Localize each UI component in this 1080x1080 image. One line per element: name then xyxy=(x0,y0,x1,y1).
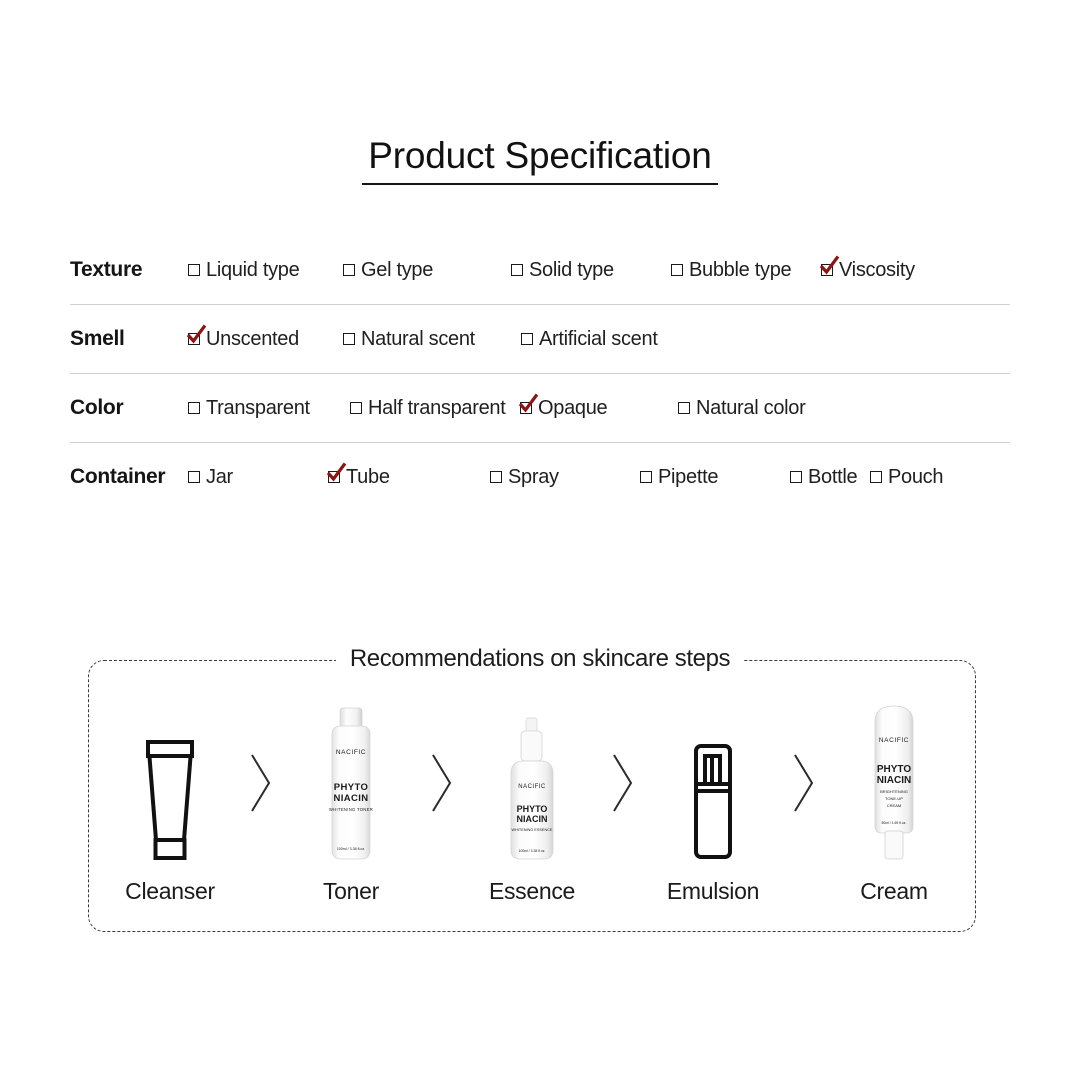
checkmark-icon xyxy=(517,393,539,413)
option-label: Viscosity xyxy=(839,259,915,282)
skincare-heading-text: Recommendations on skincare steps xyxy=(336,645,744,672)
cream-art: NACIFIC PHYTO NIACIN BRIGHTENING TONE-UP… xyxy=(859,704,929,864)
option-label: Natural scent xyxy=(361,328,475,351)
svg-text:100ml / 3.38 fl.oz.: 100ml / 3.38 fl.oz. xyxy=(519,849,546,853)
checkmark-icon xyxy=(325,462,347,482)
option-label: Gel type xyxy=(361,259,433,282)
emulsion-art xyxy=(685,704,741,864)
step-label-toner: Toner xyxy=(323,878,379,905)
option-label: Pouch xyxy=(888,466,943,489)
option-liquid-type[interactable]: Liquid type xyxy=(188,259,343,282)
step-cream[interactable]: NACIFIC PHYTO NIACIN BRIGHTENING TONE-UP… xyxy=(830,704,958,905)
checkbox-unchecked-icon[interactable] xyxy=(870,471,882,483)
row-label-color: Color xyxy=(70,396,188,420)
svg-text:NIACIN: NIACIN xyxy=(333,793,368,804)
option-artificial-scent[interactable]: Artificial scent xyxy=(521,328,658,351)
option-pipette[interactable]: Pipette xyxy=(640,466,790,489)
svg-text:50ml / 1.69 fl.oz.: 50ml / 1.69 fl.oz. xyxy=(882,821,907,825)
checkbox-unchecked-icon[interactable] xyxy=(188,402,200,414)
step-essence[interactable]: NACIFIC PHYTO NIACIN WHITENING ESSENCE 1… xyxy=(468,704,596,905)
options-texture: Liquid type Gel type Solid type Bubble t… xyxy=(188,259,1010,282)
checkbox-unchecked-icon[interactable] xyxy=(671,264,683,276)
options-container: Jar Tube Spray Pipette Bottle xyxy=(188,466,1010,489)
option-opaque[interactable]: Opaque xyxy=(520,397,678,420)
chevron-right-icon xyxy=(610,752,636,814)
step-label-cream: Cream xyxy=(860,878,928,905)
option-label: Transparent xyxy=(206,397,310,420)
option-solid-type[interactable]: Solid type xyxy=(511,259,671,282)
option-label: Artificial scent xyxy=(539,328,658,351)
option-unscented[interactable]: Unscented xyxy=(188,328,343,351)
step-label-essence: Essence xyxy=(489,878,575,905)
tube-outline-icon xyxy=(130,736,210,864)
svg-text:100ml / 3.38 fl.oz.: 100ml / 3.38 fl.oz. xyxy=(337,847,365,851)
svg-text:NIACIN: NIACIN xyxy=(517,814,548,824)
option-label: Solid type xyxy=(529,259,614,282)
checkbox-checked-icon[interactable] xyxy=(821,264,833,276)
checkbox-unchecked-icon[interactable] xyxy=(343,264,355,276)
brand-text: NACIFIC xyxy=(336,749,366,756)
toner-art: NACIFIC PHYTO NIACIN WHITENING TONER 100… xyxy=(318,704,384,864)
option-label: Opaque xyxy=(538,397,607,420)
page-root: { "page": { "title": "Product Specificat… xyxy=(0,0,1080,1080)
option-transparent[interactable]: Transparent xyxy=(188,397,350,420)
checkbox-unchecked-icon[interactable] xyxy=(343,333,355,345)
step-cleanser[interactable]: Cleanser xyxy=(106,704,234,905)
svg-text:WHITENING ESSENCE: WHITENING ESSENCE xyxy=(512,828,553,832)
spec-row-color: Color Transparent Half transparent Opaqu… xyxy=(70,374,1010,443)
step-emulsion[interactable]: Emulsion xyxy=(649,704,777,905)
option-bottle[interactable]: Bottle xyxy=(790,466,870,489)
checkbox-unchecked-icon[interactable] xyxy=(188,471,200,483)
svg-text:NACIFIC: NACIFIC xyxy=(518,784,546,790)
checkbox-unchecked-icon[interactable] xyxy=(350,402,362,414)
step-toner[interactable]: NACIFIC PHYTO NIACIN WHITENING TONER 100… xyxy=(287,704,415,905)
checkbox-unchecked-icon[interactable] xyxy=(511,264,523,276)
svg-text:NIACIN: NIACIN xyxy=(877,775,911,786)
row-label-smell: Smell xyxy=(70,327,188,351)
svg-text:TONE-UP: TONE-UP xyxy=(885,796,903,801)
checkbox-unchecked-icon[interactable] xyxy=(490,471,502,483)
arrow-1 xyxy=(237,705,285,905)
svg-text:WHITENING TONER: WHITENING TONER xyxy=(329,807,373,812)
row-label-texture: Texture xyxy=(70,258,188,282)
svg-text:CREAM: CREAM xyxy=(887,803,901,808)
checkbox-checked-icon[interactable] xyxy=(520,402,532,414)
skincare-steps-row: Cleanser xyxy=(88,690,976,905)
checkmark-icon xyxy=(818,255,840,275)
option-label: Liquid type xyxy=(206,259,299,282)
option-jar[interactable]: Jar xyxy=(188,466,328,489)
checkbox-unchecked-icon[interactable] xyxy=(188,264,200,276)
pump-bottle-outline-icon xyxy=(685,740,741,864)
arrow-4 xyxy=(780,705,828,905)
page-title: Product Specification xyxy=(362,135,717,185)
checkbox-unchecked-icon[interactable] xyxy=(678,402,690,414)
checkbox-unchecked-icon[interactable] xyxy=(790,471,802,483)
chevron-right-icon xyxy=(429,752,455,814)
svg-text:PHYTO: PHYTO xyxy=(334,782,369,793)
page-title-wrap: Product Specification xyxy=(0,135,1080,185)
spec-row-texture: Texture Liquid type Gel type Solid type … xyxy=(70,236,1010,305)
checkbox-unchecked-icon[interactable] xyxy=(640,471,652,483)
spec-row-container: Container Jar Tube Spray Pipette xyxy=(70,443,1010,511)
svg-text:PHYTO: PHYTO xyxy=(517,804,548,814)
checkbox-unchecked-icon[interactable] xyxy=(521,333,533,345)
svg-text:NACIFIC: NACIFIC xyxy=(879,737,909,744)
arrow-2 xyxy=(418,705,466,905)
option-label: Bubble type xyxy=(689,259,791,282)
row-label-container: Container xyxy=(70,465,188,489)
step-label-emulsion: Emulsion xyxy=(667,878,759,905)
checkbox-checked-icon[interactable] xyxy=(188,333,200,345)
option-label: Bottle xyxy=(808,466,857,489)
option-gel-type[interactable]: Gel type xyxy=(343,259,511,282)
option-label: Tube xyxy=(346,466,390,489)
cream-tube-photo: NACIFIC PHYTO NIACIN BRIGHTENING TONE-UP… xyxy=(859,700,929,864)
chevron-right-icon xyxy=(791,752,817,814)
option-label: Spray xyxy=(508,466,559,489)
cleanser-art xyxy=(130,704,210,864)
option-bubble-type[interactable]: Bubble type xyxy=(671,259,821,282)
checkmark-icon xyxy=(185,324,207,344)
options-color: Transparent Half transparent Opaque Natu… xyxy=(188,397,1010,420)
option-natural-color[interactable]: Natural color xyxy=(678,397,805,420)
svg-text:PHYTO: PHYTO xyxy=(877,764,911,775)
toner-bottle-photo: NACIFIC PHYTO NIACIN WHITENING TONER 100… xyxy=(318,704,384,864)
dropper-bottle-photo: NACIFIC PHYTO NIACIN WHITENING ESSENCE 1… xyxy=(501,716,563,864)
skincare-heading: Recommendations on skincare steps xyxy=(0,645,1080,673)
spec-table: Texture Liquid type Gel type Solid type … xyxy=(70,236,1010,511)
options-smell: Unscented Natural scent Artificial scent xyxy=(188,328,1010,351)
option-label: Half transparent xyxy=(368,397,506,420)
step-label-cleanser: Cleanser xyxy=(125,878,215,905)
option-viscosity[interactable]: Viscosity xyxy=(821,259,915,282)
arrow-3 xyxy=(599,705,647,905)
checkbox-checked-icon[interactable] xyxy=(328,471,340,483)
option-pouch[interactable]: Pouch xyxy=(870,466,943,489)
option-label: Jar xyxy=(206,466,233,489)
option-tube[interactable]: Tube xyxy=(328,466,490,489)
option-spray[interactable]: Spray xyxy=(490,466,640,489)
svg-text:BRIGHTENING: BRIGHTENING xyxy=(880,789,908,794)
option-half-transparent[interactable]: Half transparent xyxy=(350,397,520,420)
chevron-right-icon xyxy=(248,752,274,814)
option-label: Unscented xyxy=(206,328,299,351)
option-label: Pipette xyxy=(658,466,718,489)
spec-row-smell: Smell Unscented Natural scent Artificial… xyxy=(70,305,1010,374)
option-natural-scent[interactable]: Natural scent xyxy=(343,328,521,351)
option-label: Natural color xyxy=(696,397,805,420)
essence-art: NACIFIC PHYTO NIACIN WHITENING ESSENCE 1… xyxy=(501,704,563,864)
